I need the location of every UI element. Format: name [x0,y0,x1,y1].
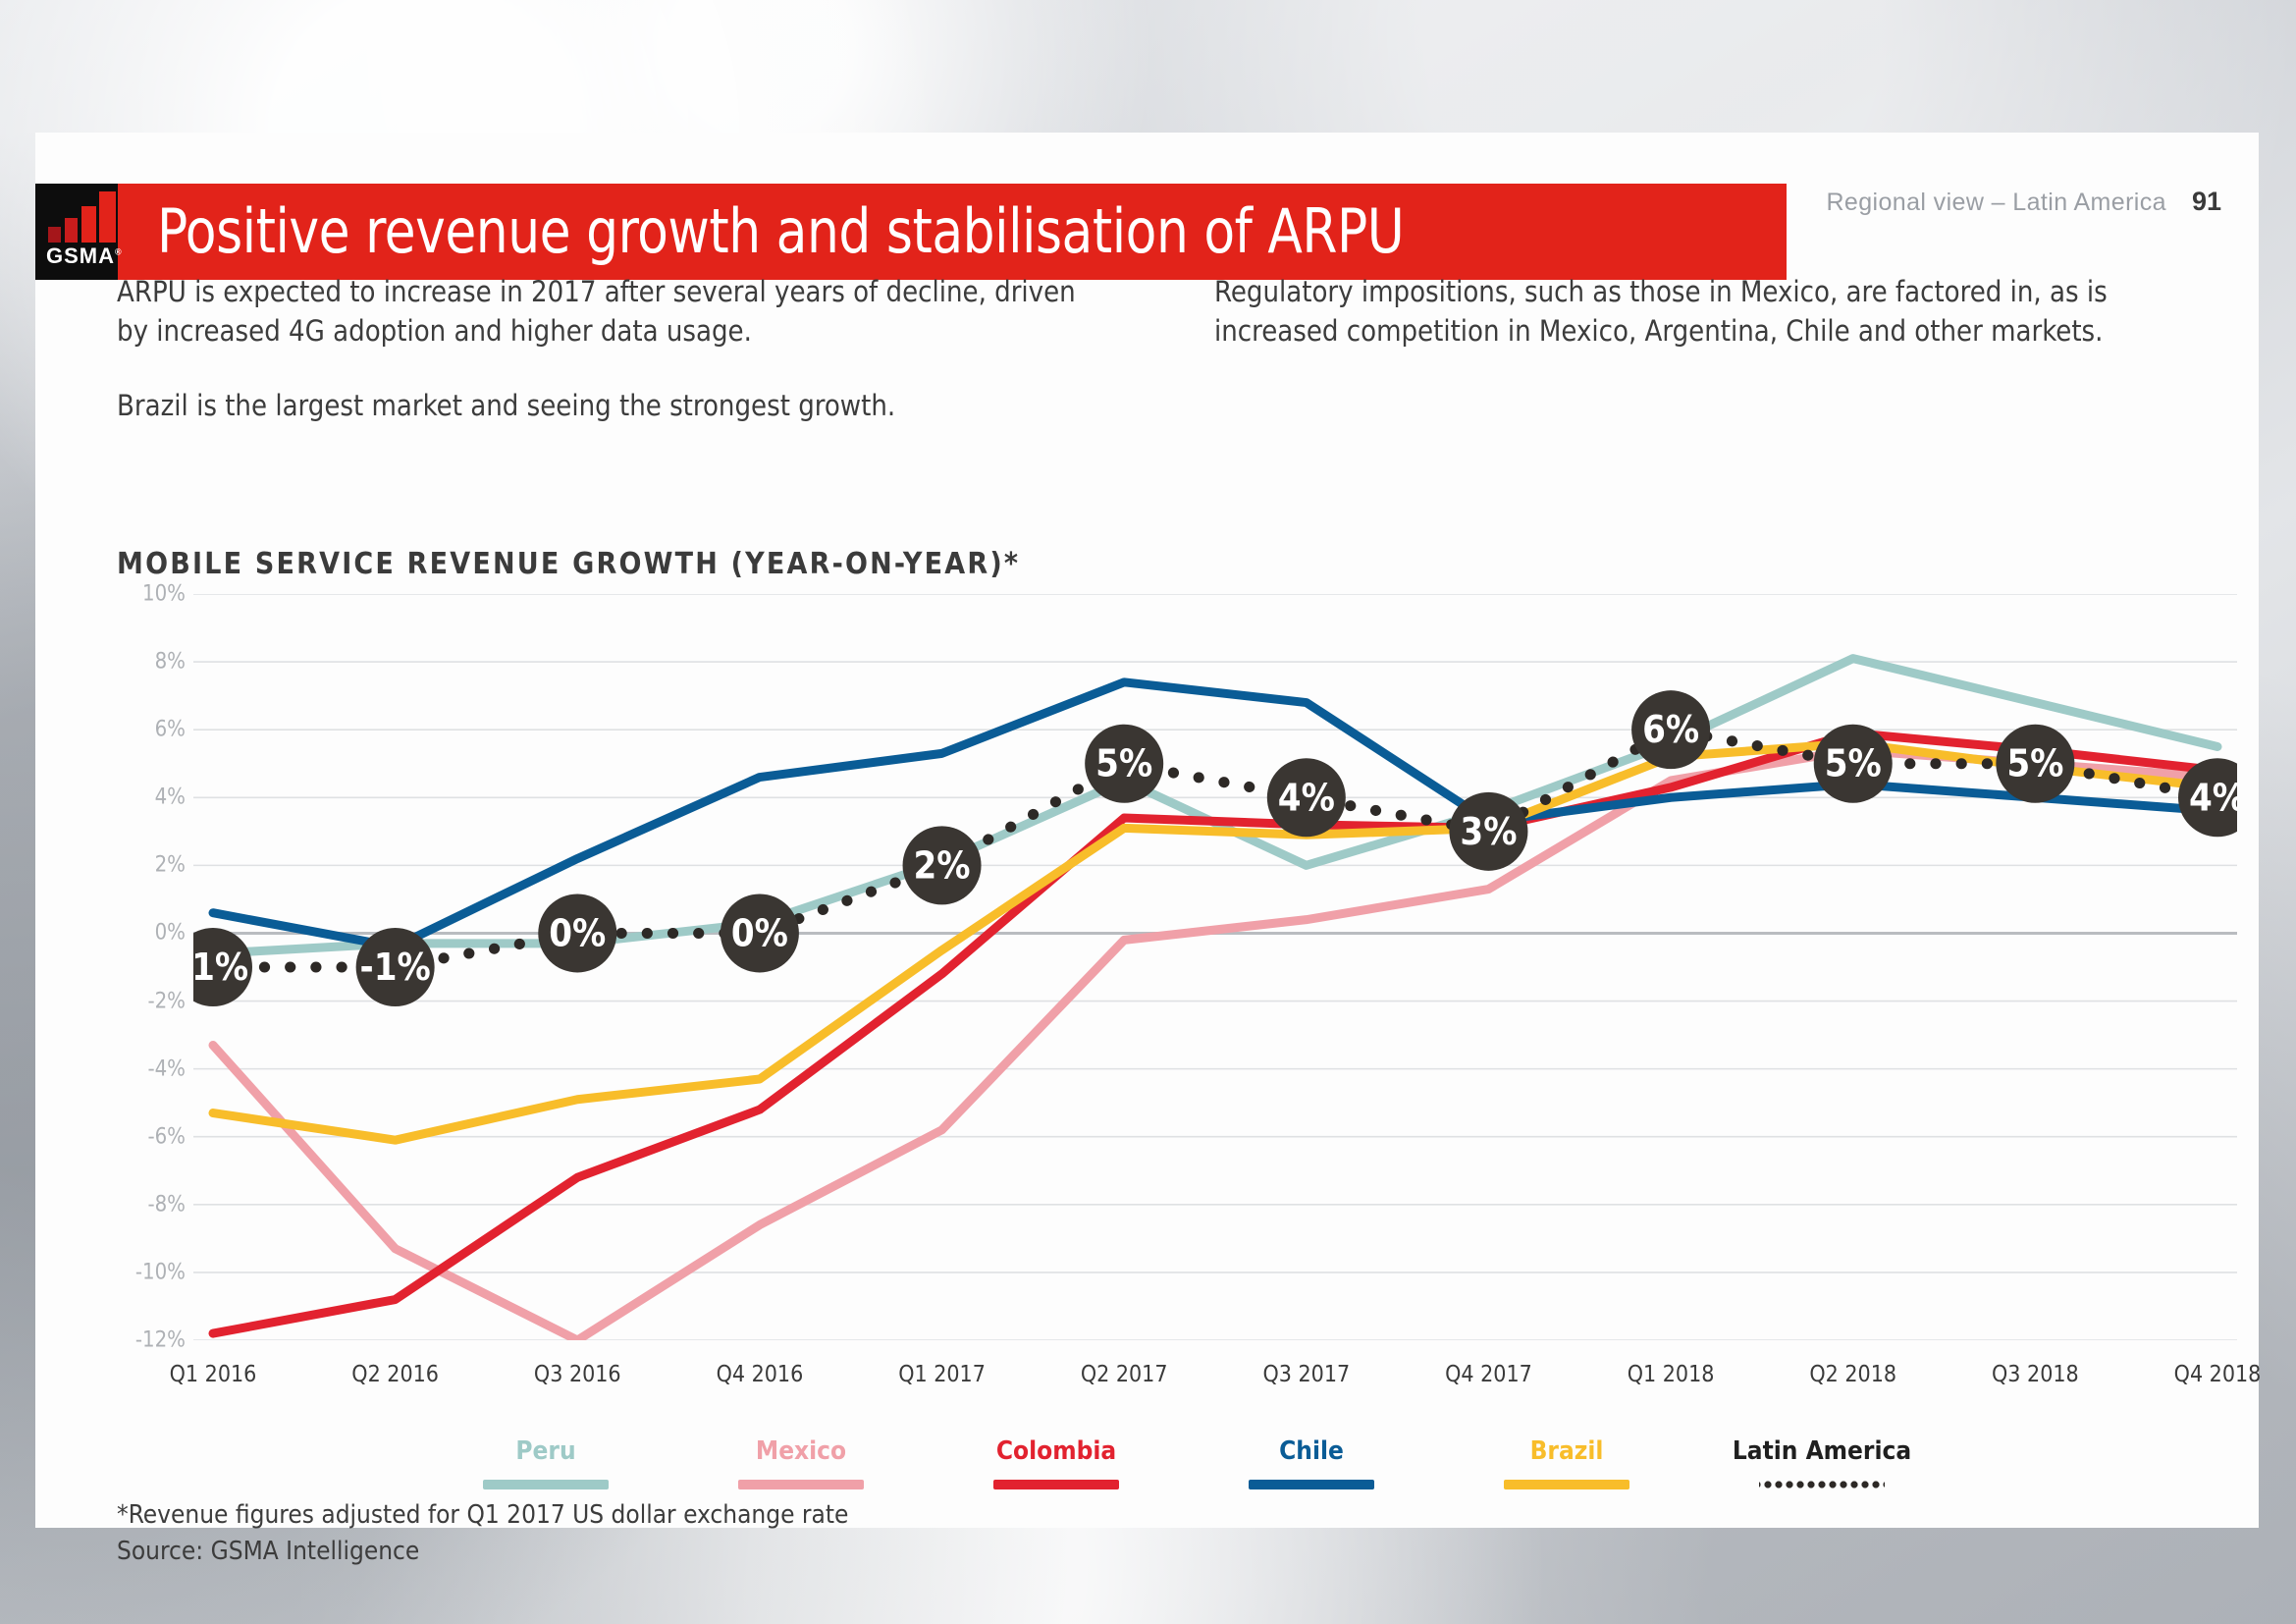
legend-item-colombia[interactable]: Colombia [958,1436,1154,1489]
footnote: *Revenue figures adjusted for Q1 2017 US… [117,1497,848,1570]
series-line-mexico [213,750,2217,1340]
y-tick-label: -6% [147,1124,186,1149]
legend-swatch [483,1480,609,1489]
series-line-chile [213,682,2217,947]
line-chart-svg: -1%-1%0%0%2%5%4%3%6%5%5%4% [193,594,2237,1340]
chart-area: 10%8%6%4%2%0%-2%-4%-6%-8%-10%-12% -1%-1%… [117,594,2237,1380]
footnote-line-1: *Revenue figures adjusted for Q1 2017 US… [117,1497,848,1534]
series-line-colombia [213,733,2217,1333]
callout-bubble: -1% [193,928,252,1006]
callout-label: 4% [1278,776,1335,819]
y-tick-label: 8% [155,650,186,675]
series-line-peru [213,659,2217,954]
slide-page: GSMA® Positive revenue growth and stabil… [35,133,2259,1528]
title-bar: Positive revenue growth and stabilisatio… [132,184,1787,280]
x-tick-label: Q2 2017 [1081,1362,1168,1387]
legend-item-peru[interactable]: Peru [448,1436,644,1489]
callout-label: 5% [2006,742,2063,785]
logo-wordmark-text: GSMA [46,244,115,268]
legend-label: Colombia [958,1436,1154,1466]
y-tick-label: 2% [155,853,186,878]
callout-bubble: 0% [721,893,799,972]
legend-swatch [1504,1480,1629,1489]
chart-legend: PeruMexicoColombiaChileBrazilLatin Ameri… [448,1436,1920,1489]
legend-label: Peru [448,1436,644,1466]
footnote-line-2: Source: GSMA Intelligence [117,1534,848,1570]
logo-bar-1 [48,227,61,243]
callout-bubble: 2% [903,826,982,904]
callout-label: -1% [193,946,248,989]
y-tick-label: 0% [155,921,186,946]
x-tick-label: Q4 2018 [2174,1362,2262,1387]
x-tick-label: Q4 2016 [717,1362,804,1387]
legend-swatch [738,1480,864,1489]
y-tick-label: -12% [135,1328,186,1353]
y-axis-labels: 10%8%6%4%2%0%-2%-4%-6%-8%-10%-12% [117,594,193,1340]
callout-bubble: 4% [1267,758,1346,837]
logo-wordmark: GSMA® [46,244,123,269]
legend-swatch [993,1480,1119,1489]
x-tick-label: Q2 2016 [351,1362,439,1387]
intro-column-right: Regulatory impositions, such as those in… [1214,272,2198,425]
legend-item-brazil[interactable]: Brazil [1468,1436,1665,1489]
y-tick-label: 10% [142,582,186,607]
x-tick-label: Q3 2018 [1992,1362,2079,1387]
callout-label: 0% [549,911,606,954]
callout-bubble: -1% [356,928,435,1006]
intro-paragraph-3: Regulatory impositions, such as those in… [1214,272,2198,351]
x-tick-label: Q4 2017 [1445,1362,1532,1387]
x-tick-label: Q1 2018 [1628,1362,1715,1387]
breadcrumb: Regional view – Latin America [1826,189,2166,217]
callout-bubble: 6% [1631,690,1710,769]
intro-paragraph-2: Brazil is the largest market and seeing … [117,386,1100,425]
callout-label: 6% [1642,708,1699,751]
plot-canvas: -1%-1%0%0%2%5%4%3%6%5%5%4% [193,594,2237,1340]
callout-bubble: 0% [538,893,616,972]
callout-bubble: 5% [1085,725,1163,803]
y-tick-label: -10% [135,1260,186,1284]
callout-label: -1% [360,946,431,989]
callout-label: 4% [2189,776,2237,819]
x-tick-label: Q3 2017 [1262,1362,1350,1387]
legend-swatch [1759,1480,1885,1489]
legend-item-chile[interactable]: Chile [1213,1436,1410,1489]
x-axis-labels: Q1 2016Q2 2016Q3 2016Q4 2016Q1 2017Q2 20… [193,1362,2237,1401]
intro-column-left: ARPU is expected to increase in 2017 aft… [117,272,1100,425]
legend-swatch [1249,1480,1374,1489]
legend-label: Mexico [703,1436,899,1466]
callout-bubble: 5% [1814,725,1893,803]
header-right: Regional view – Latin America 91 [1826,187,2221,217]
callout-bubble: 5% [1996,725,2074,803]
y-tick-label: -8% [147,1192,186,1217]
callout-bubble: 3% [1449,792,1527,871]
intro-text: ARPU is expected to increase in 2017 aft… [117,272,2198,425]
legend-label: Brazil [1468,1436,1665,1466]
callout-label: 5% [1095,742,1152,785]
x-tick-label: Q1 2017 [898,1362,986,1387]
callout-label: 0% [731,911,788,954]
y-tick-label: 4% [155,785,186,810]
callout-label: 2% [914,843,971,887]
y-tick-label: 6% [155,718,186,742]
logo-bar-3 [81,206,96,243]
callout-label: 3% [1460,810,1517,853]
page-number: 91 [2192,187,2221,217]
legend-item-mexico[interactable]: Mexico [703,1436,899,1489]
gsma-logo: GSMA® [35,184,132,280]
callout-label: 5% [1825,742,1882,785]
x-tick-label: Q3 2016 [534,1362,621,1387]
logo-bar-4 [99,191,116,243]
y-tick-label: -2% [147,989,186,1013]
y-tick-label: -4% [147,1056,186,1081]
legend-label: Latin America [1724,1436,1920,1466]
x-tick-label: Q1 2016 [170,1362,257,1387]
legend-label: Chile [1213,1436,1410,1466]
logo-bar-2 [65,218,78,243]
x-tick-label: Q2 2018 [1809,1362,1896,1387]
page-title: Positive revenue growth and stabilisatio… [132,201,1404,262]
intro-paragraph-1: ARPU is expected to increase in 2017 aft… [117,272,1100,351]
legend-item-latin-america[interactable]: Latin America [1724,1436,1920,1489]
chart-title: MOBILE SERVICE REVENUE GROWTH (YEAR-ON-Y… [117,547,1020,581]
